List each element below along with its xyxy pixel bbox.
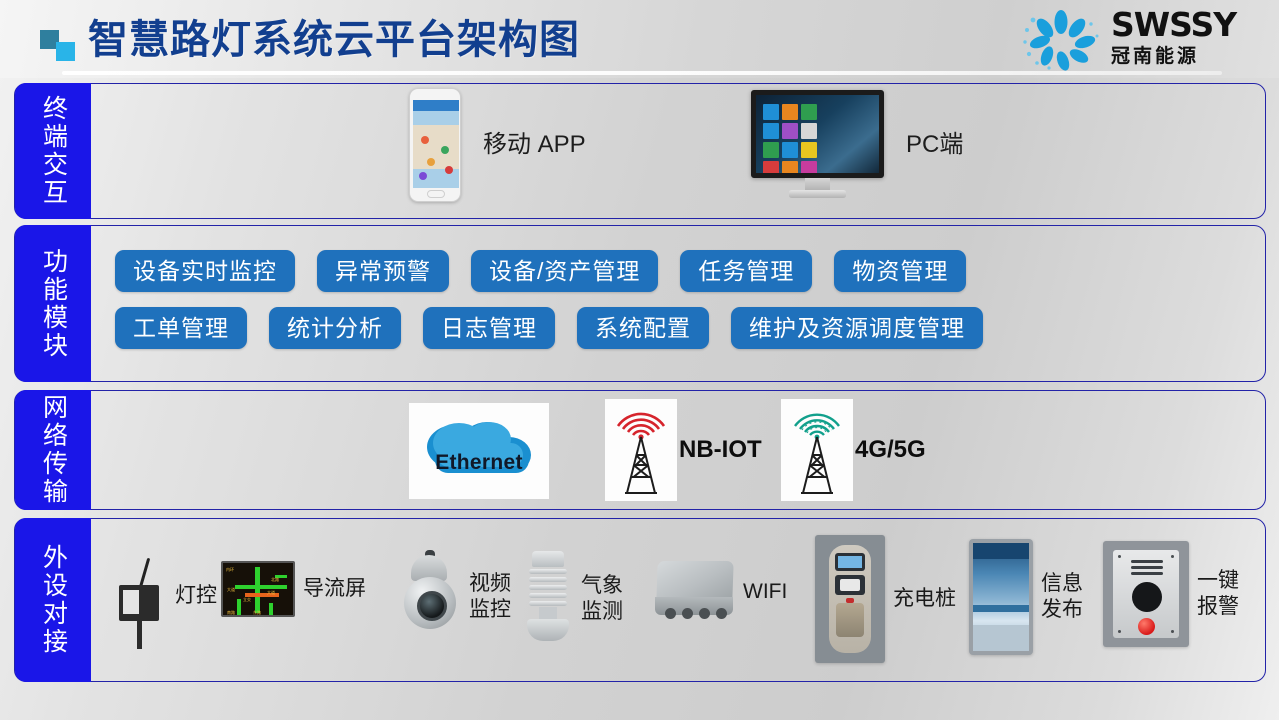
- function-button-maintenance-scheduling[interactable]: 维护及资源调度管理: [731, 307, 983, 349]
- decor-square-light-icon: [56, 42, 75, 61]
- cloud-icon: Ethernet: [409, 403, 549, 499]
- function-button-material-management[interactable]: 物资管理: [834, 250, 966, 292]
- device-item-emergency-alarm[interactable]: 一键 报警: [1103, 541, 1239, 647]
- section-tab-device[interactable]: 外设对接: [15, 518, 91, 682]
- terminal-item-mobile-app[interactable]: 移动 APP: [409, 88, 586, 202]
- section-tab-terminal[interactable]: 终端交互: [15, 83, 91, 219]
- section-function-modules: 功能模块 设备实时监控 异常预警 设备/资产管理 任务管理 物资管理 工单管理 …: [14, 225, 1266, 382]
- network-label-nb-iot: NB-IOT: [679, 436, 762, 464]
- wifi-enclosure-icon: [653, 561, 735, 623]
- terminal-item-pc[interactable]: PC端: [751, 90, 963, 200]
- info-display-icon: [969, 539, 1033, 655]
- section-network-transmission: 网络传输: [14, 390, 1266, 510]
- device-item-info-display[interactable]: 信息 发布: [969, 539, 1083, 655]
- network-items-row: Ethernet: [93, 391, 1265, 509]
- device-item-weather-monitoring[interactable]: 气象 监测: [523, 551, 623, 647]
- device-label-guidance-screen: 导流屏: [303, 576, 366, 602]
- guidance-screen-icon: 内环 北路 大道 大道 立交 南路 东路: [221, 561, 295, 617]
- network-item-4g-5g[interactable]: 4G/5G: [781, 399, 926, 501]
- lamp-controller-icon: [113, 557, 167, 635]
- desktop-monitor-icon: [751, 90, 884, 200]
- function-button-work-order[interactable]: 工单管理: [115, 307, 247, 349]
- water-droplet-petals-logo-icon: [1015, 8, 1107, 72]
- network-label-4g-5g: 4G/5G: [855, 436, 926, 464]
- device-label-info-display: 信息 发布: [1041, 571, 1083, 623]
- weather-sensor-icon: [523, 551, 573, 647]
- logo-subtitle: 冠南能源: [1111, 44, 1236, 70]
- network-item-ethernet[interactable]: Ethernet: [409, 403, 549, 499]
- company-logo: SWSSY 冠南能源: [1015, 6, 1265, 74]
- section-peripheral-docking: 外设对接 灯控 内环 北路: [14, 518, 1266, 682]
- device-label-weather-monitoring: 气象 监测: [581, 573, 623, 625]
- device-label-lamp-control: 灯控: [175, 583, 217, 609]
- charging-pile-icon: [815, 535, 885, 663]
- device-item-guidance-screen[interactable]: 内环 北路 大道 大道 立交 南路 东路 导流屏: [221, 561, 366, 617]
- terminal-label-mobile-app: 移动 APP: [483, 130, 586, 160]
- function-button-asset-management[interactable]: 设备/资产管理: [471, 250, 658, 292]
- emergency-call-icon: [1103, 541, 1189, 647]
- function-button-row-1: 设备实时监控 异常预警 设备/资产管理 任务管理 物资管理: [115, 250, 988, 292]
- section-tab-network[interactable]: 网络传输: [15, 390, 91, 510]
- device-items-row: 灯控 内环 北路 大道 大道 立交 南路 东路: [93, 519, 1265, 681]
- function-button-system-config[interactable]: 系统配置: [577, 307, 709, 349]
- page-header: 智慧路灯系统云平台架构图 SWSSY 冠南能源: [0, 0, 1279, 78]
- logo-wordmark: SWSSY: [1111, 8, 1236, 42]
- function-button-log-management[interactable]: 日志管理: [423, 307, 555, 349]
- signal-tower-teal-icon: [781, 399, 853, 501]
- signal-tower-red-icon: [605, 399, 677, 501]
- function-button-task-management[interactable]: 任务管理: [680, 250, 812, 292]
- network-label-ethernet: Ethernet: [409, 451, 549, 475]
- logo-text-block: SWSSY 冠南能源: [1111, 8, 1236, 70]
- ptz-camera-icon: [399, 555, 461, 639]
- terminal-label-pc: PC端: [906, 130, 963, 160]
- section-tab-function[interactable]: 功能模块: [15, 225, 91, 382]
- device-label-wifi: WIFI: [743, 579, 787, 605]
- function-button-statistics[interactable]: 统计分析: [269, 307, 401, 349]
- device-label-emergency-alarm: 一键 报警: [1197, 568, 1239, 620]
- device-item-wifi[interactable]: WIFI: [653, 561, 787, 623]
- device-item-charging-pile[interactable]: 充电桩: [815, 535, 956, 663]
- device-item-lamp-control[interactable]: 灯控: [113, 557, 217, 635]
- function-button-row-2: 工单管理 统计分析 日志管理 系统配置 维护及资源调度管理: [115, 307, 1005, 349]
- network-item-nb-iot[interactable]: NB-IOT: [605, 399, 762, 501]
- device-item-video-surveillance[interactable]: 视频 监控: [399, 555, 511, 639]
- terminal-items-row: 移动 APP: [93, 84, 1265, 218]
- function-button-device-monitor[interactable]: 设备实时监控: [115, 250, 295, 292]
- page-title: 智慧路灯系统云平台架构图: [88, 12, 580, 68]
- section-terminal-interaction: 终端交互 移动: [14, 83, 1266, 219]
- device-label-video-surveillance: 视频 监控: [469, 571, 511, 623]
- device-label-charging-pile: 充电桩: [893, 586, 956, 612]
- function-button-abnormal-alert[interactable]: 异常预警: [317, 250, 449, 292]
- header-divider: [62, 71, 1222, 75]
- smartphone-map-icon: [409, 88, 461, 202]
